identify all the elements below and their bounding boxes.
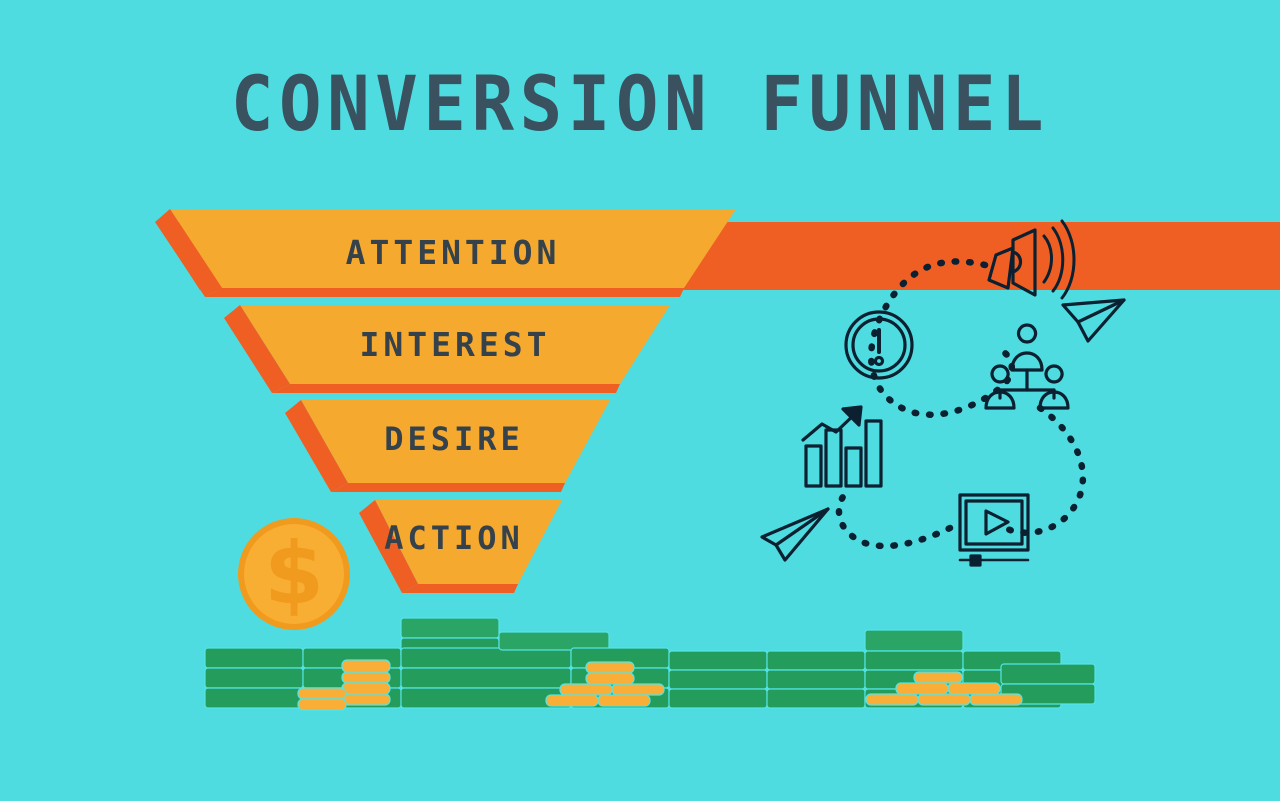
bill xyxy=(669,651,767,670)
bill xyxy=(1001,664,1095,684)
bill xyxy=(767,651,865,670)
bill xyxy=(669,670,767,689)
bill xyxy=(865,651,963,670)
bill xyxy=(767,670,865,689)
bill xyxy=(865,630,963,651)
bill xyxy=(401,668,571,688)
bill xyxy=(205,668,303,688)
infographic-canvas: CONVERSION FUNNEL $ ATTENTION INTEREST D… xyxy=(0,0,1280,801)
bill xyxy=(205,688,303,708)
bill xyxy=(669,689,767,708)
bill xyxy=(401,648,571,668)
bill xyxy=(205,648,303,668)
money-stacks-graphic xyxy=(0,0,1280,801)
bill xyxy=(401,618,499,638)
bill xyxy=(767,689,865,708)
bill xyxy=(499,632,609,650)
bill xyxy=(401,688,571,708)
